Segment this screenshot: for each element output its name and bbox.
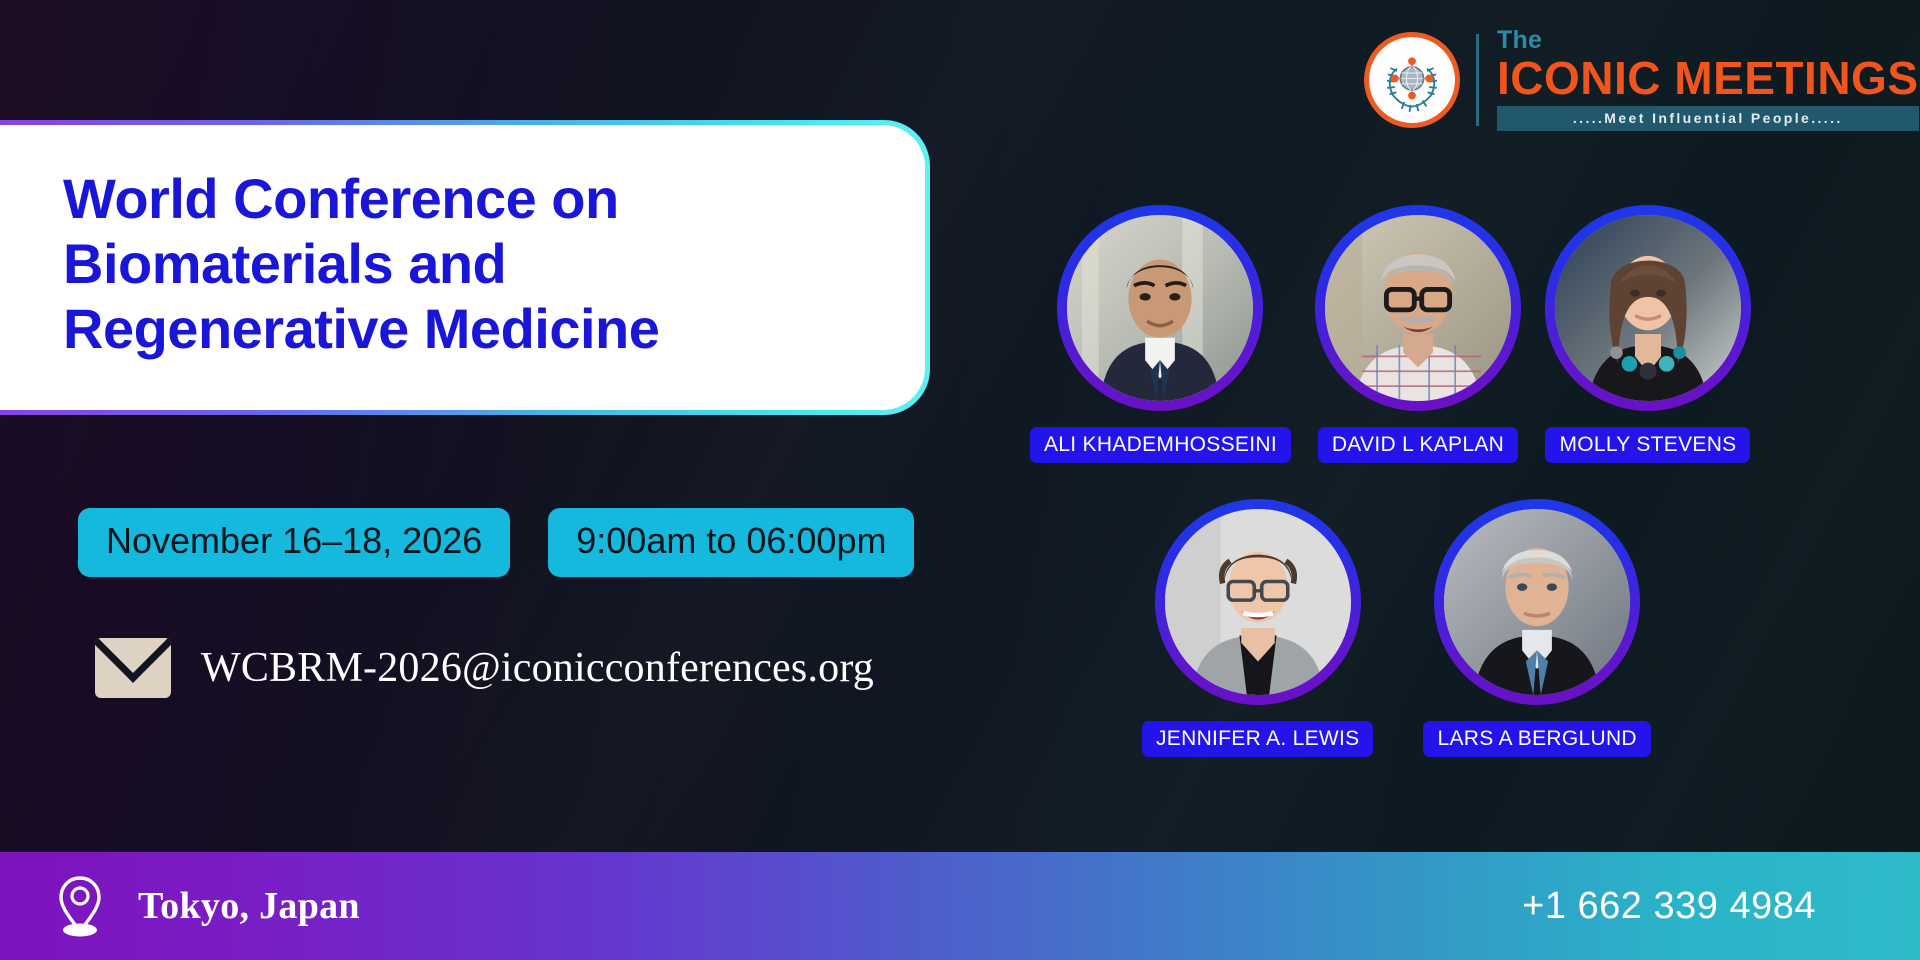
event-date-pill: November 16–18, 2026 — [78, 508, 510, 577]
footer-location-group: Tokyo, Japan — [56, 875, 360, 937]
speakers-grid: ALI KHADEMHOSSEINI — [1030, 205, 1870, 757]
speaker-card[interactable]: LARS A BERGLUND — [1423, 499, 1650, 757]
footer-bar: Tokyo, Japan +1 662 339 4984 — [0, 852, 1920, 960]
envelope-icon — [95, 638, 171, 698]
avatar — [1325, 215, 1511, 401]
speaker-name-label: MOLLY STEVENS — [1545, 427, 1750, 463]
speaker-name-label: LARS A BERGLUND — [1423, 721, 1650, 757]
contact-email-text[interactable]: WCBRM-2026@iconicconferences.org — [201, 644, 874, 692]
event-time-pill: 9:00am to 06:00pm — [548, 508, 914, 577]
map-pin-icon — [56, 875, 104, 937]
contact-email-row[interactable]: WCBRM-2026@iconicconferences.org — [95, 638, 874, 698]
avatar — [1067, 215, 1253, 401]
brand-logo[interactable]: The ICONIC MEETINGS .....Meet Influentia… — [1364, 28, 1919, 131]
speaker-card[interactable]: ALI KHADEMHOSSEINI — [1030, 205, 1291, 463]
avatar-ring — [1057, 205, 1263, 411]
event-info-pills: November 16–18, 2026 9:00am to 06:00pm — [78, 508, 914, 577]
avatar-ring — [1315, 205, 1521, 411]
logo-the-text: The — [1497, 28, 1919, 53]
avatar-ring — [1545, 205, 1751, 411]
speakers-row-bottom: JENNIFER A. LEWIS — [1142, 499, 1870, 757]
conference-title-card: World Conference on Biomaterials and Reg… — [0, 120, 930, 415]
footer-location-text: Tokyo, Japan — [138, 884, 360, 928]
speaker-card[interactable]: DAVID L KAPLAN — [1315, 205, 1521, 463]
speaker-card[interactable]: JENNIFER A. LEWIS — [1142, 499, 1373, 757]
title-card-inner: World Conference on Biomaterials and Reg… — [0, 125, 925, 410]
logo-divider — [1476, 34, 1479, 126]
speaker-card[interactable]: MOLLY STEVENS — [1545, 205, 1751, 463]
logo-name-text: ICONIC MEETINGS — [1497, 55, 1919, 101]
avatar — [1555, 215, 1741, 401]
logo-tagline: .....Meet Influential People..... — [1497, 106, 1919, 131]
globe-laurel-emblem-icon — [1364, 32, 1460, 128]
logo-wordmark: The ICONIC MEETINGS .....Meet Influentia… — [1497, 28, 1919, 131]
avatar — [1444, 509, 1630, 695]
speakers-row-top: ALI KHADEMHOSSEINI — [1030, 205, 1870, 463]
speaker-name-label: ALI KHADEMHOSSEINI — [1030, 427, 1291, 463]
speaker-name-label: DAVID L KAPLAN — [1318, 427, 1518, 463]
conference-banner: The ICONIC MEETINGS .....Meet Influentia… — [0, 0, 1920, 960]
page-title: World Conference on Biomaterials and Reg… — [63, 167, 865, 362]
footer-phone-text[interactable]: +1 662 339 4984 — [1522, 885, 1864, 928]
speaker-name-label: JENNIFER A. LEWIS — [1142, 721, 1373, 757]
avatar-ring — [1155, 499, 1361, 705]
avatar — [1165, 509, 1351, 695]
avatar-ring — [1434, 499, 1640, 705]
